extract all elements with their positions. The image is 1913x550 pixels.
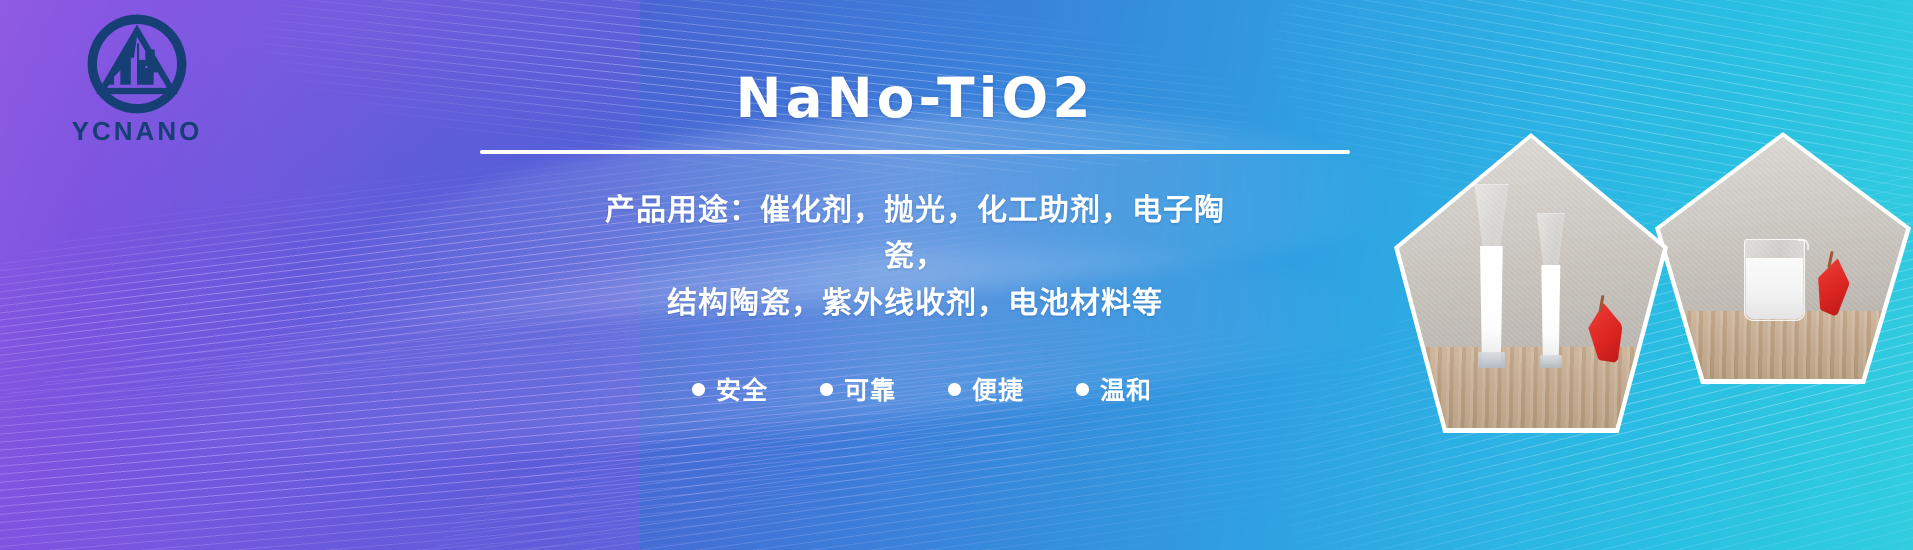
feature-label-convenient: 便捷 — [972, 371, 1024, 407]
banner-content: NaNo-TiO2 产品用途：催化剂，抛光，化工助剂，电子陶瓷， 结构陶瓷，紫外… — [480, 70, 1350, 407]
feature-label-mild: 温和 — [1100, 371, 1152, 407]
vase-base — [1478, 352, 1505, 368]
bullet-dot-icon — [820, 383, 833, 396]
vase-white-powder — [1468, 246, 1516, 365]
beaker-object — [1744, 239, 1806, 321]
feature-label-reliable: 可靠 — [844, 371, 896, 407]
beaker-white-liquid — [1746, 258, 1804, 319]
brand-logo: YCNANO — [42, 12, 232, 157]
vase-object-tall — [1468, 184, 1516, 364]
product-uses-line-2: 结构陶瓷，紫外线收剂，电池材料等 — [595, 281, 1235, 328]
product-banner: YCNANO NaNo-TiO2 产品用途：催化剂，抛光，化工助剂，电子陶瓷， … — [0, 0, 1913, 550]
product-uses-line-1: 产品用途：催化剂，抛光，化工助剂，电子陶瓷， — [595, 188, 1235, 281]
bullet-dot-icon — [692, 383, 705, 396]
ycnano-mountain-circle-icon — [85, 12, 189, 116]
feature-item-mild: 温和 — [1076, 371, 1152, 407]
feature-list: 安全 可靠 便捷 温和 — [480, 371, 1350, 407]
feature-item-safe: 安全 — [692, 371, 768, 407]
vase-object-short — [1531, 213, 1571, 364]
brand-wordmark: YCNANO — [42, 118, 232, 144]
vase-base — [1540, 355, 1562, 369]
feature-item-convenient: 便捷 — [948, 371, 1024, 407]
product-uses-text: 产品用途：催化剂，抛光，化工助剂，电子陶瓷， 结构陶瓷，紫外线收剂，电池材料等 — [595, 188, 1235, 328]
vase-white-powder — [1531, 265, 1571, 365]
photo-table — [1660, 311, 1906, 379]
beaker-spout — [1798, 239, 1809, 250]
feature-item-reliable: 可靠 — [820, 371, 896, 407]
bullet-dot-icon — [1076, 383, 1089, 396]
product-title: NaNo-TiO2 — [480, 70, 1350, 128]
bullet-dot-icon — [948, 383, 961, 396]
feature-label-safe: 安全 — [716, 371, 768, 407]
title-divider — [480, 150, 1350, 154]
